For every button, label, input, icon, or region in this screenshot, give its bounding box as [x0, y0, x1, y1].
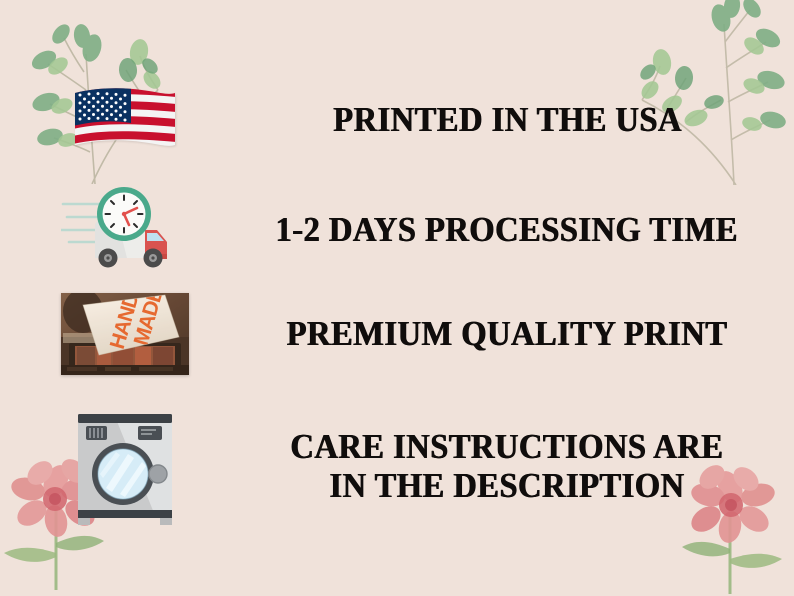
screen-printing-photo-icon: HAND MADE: [61, 293, 189, 375]
headline-premium-quality: PREMIUM QUALITY PRINT: [287, 314, 728, 353]
headline-care-instructions-line2: IN THE DESCRIPTION: [329, 466, 684, 505]
headline-printed-in-usa: PRINTED IN THE USA: [333, 100, 682, 139]
headline-processing-time: 1-2 DAYS PROCESSING TIME: [276, 210, 738, 249]
row4-text-cell: CARE INSTRUCTIONS ARE IN THE DESCRIPTION: [250, 427, 794, 505]
row3-icon-cell: HAND MADE: [0, 293, 250, 375]
washing-machine-icon: [70, 404, 180, 529]
feature-row-premium-quality: HAND MADE PREMIUM QUALITY PRINT: [0, 286, 794, 382]
usa-flag-icon: [73, 85, 177, 155]
promo-poster: PRINTED IN THE USA: [0, 0, 794, 596]
row3-text-cell: PREMIUM QUALITY PRINT: [250, 314, 794, 353]
headline-care-instructions-line1: CARE INSTRUCTIONS ARE: [290, 427, 723, 466]
feature-row-processing-time: 1-2 DAYS PROCESSING TIME: [0, 182, 794, 278]
row2-text-cell: 1-2 DAYS PROCESSING TIME: [250, 210, 794, 249]
fast-delivery-truck-clock-icon: [61, 184, 189, 276]
row4-icon-cell: [0, 404, 250, 529]
row1-text-cell: PRINTED IN THE USA: [250, 100, 794, 139]
row2-icon-cell: [0, 184, 250, 276]
feature-row-care-instructions: CARE INSTRUCTIONS ARE IN THE DESCRIPTION: [0, 396, 794, 536]
feature-row-printed-in-usa: PRINTED IN THE USA: [0, 72, 794, 168]
row1-icon-cell: [0, 85, 250, 155]
